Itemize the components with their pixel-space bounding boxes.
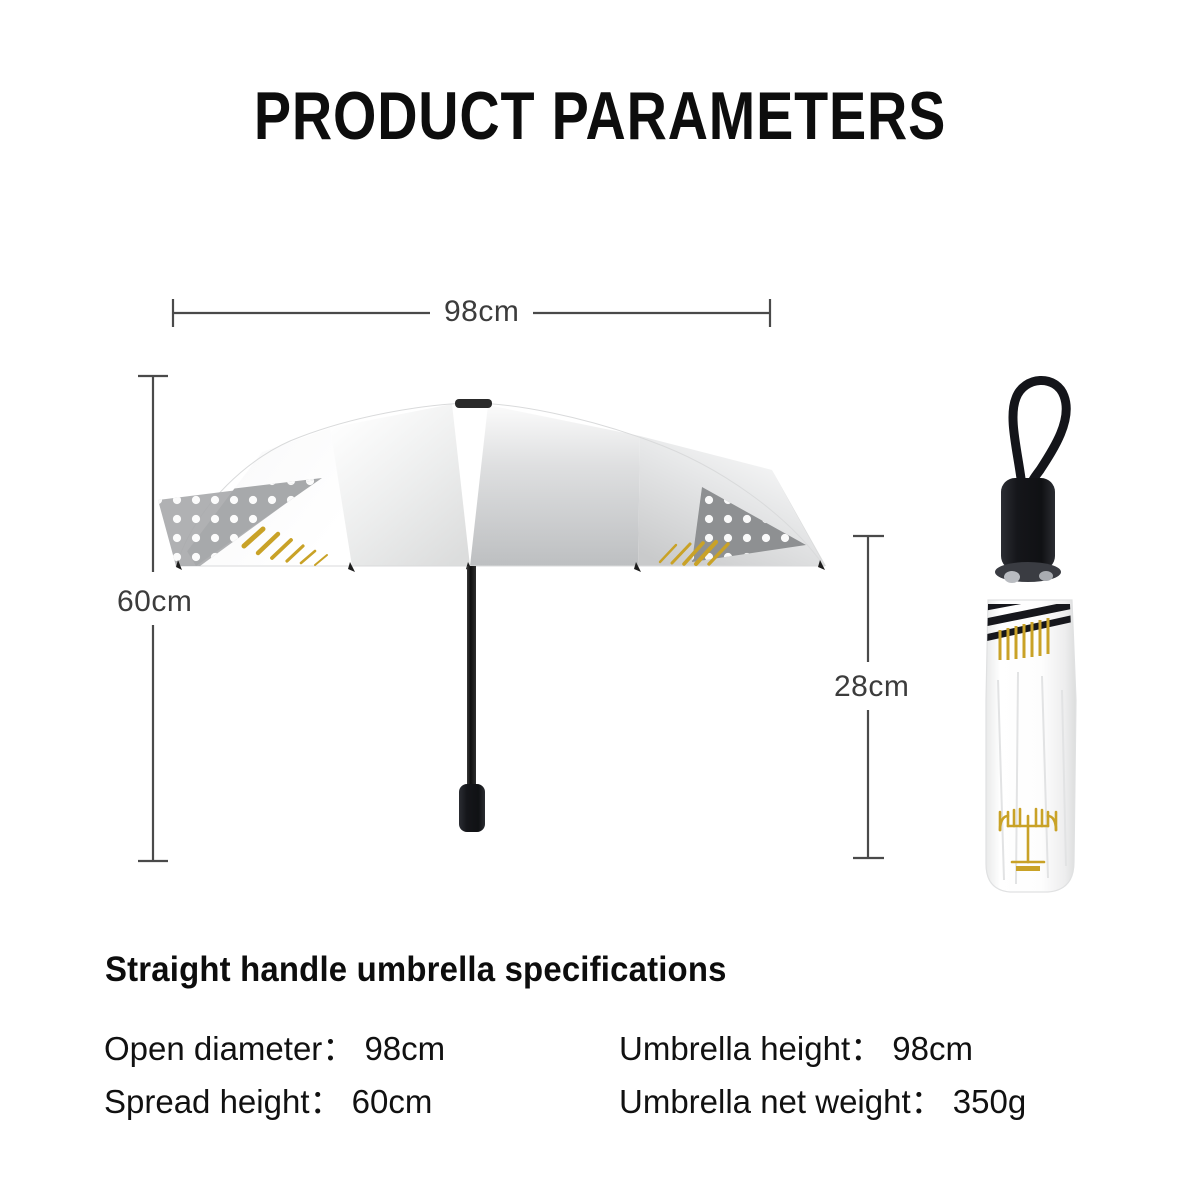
spec-row: Spread height： 60cm Umbrella net weight：… [104, 1083, 1114, 1122]
dimension-label-width: 98cm [430, 297, 533, 327]
spec-heading: Straight handle umbrella specifications [105, 950, 727, 990]
product-figure: 98cm 60cm 28cm [0, 0, 1200, 930]
umbrella-handle [459, 784, 485, 832]
spec-net-weight: Umbrella net weight： 350g [619, 1083, 1114, 1122]
canopy-ferrule [455, 399, 492, 408]
figure-svg [0, 0, 1200, 930]
spec-row: Open diameter： 98cm Umbrella height： 98c… [104, 1030, 1114, 1069]
folded-collar [995, 562, 1061, 583]
dimension-label-open-height: 60cm [111, 583, 198, 621]
wrist-strap-loop [1013, 380, 1066, 488]
canopy-panel-left [330, 404, 470, 566]
open-umbrella [155, 399, 826, 832]
spec-spread-height: Spread height： 60cm [104, 1083, 619, 1122]
spec-umbrella-height: Umbrella height： 98cm [619, 1030, 1114, 1069]
folded-handle [1001, 478, 1055, 570]
spec-table: Open diameter： 98cm Umbrella height： 98c… [104, 1030, 1114, 1136]
folded-umbrella [978, 380, 1086, 892]
spec-open-diameter: Open diameter： 98cm [104, 1030, 619, 1069]
umbrella-shaft [467, 566, 476, 788]
dimension-label-folded-length: 28cm [828, 668, 915, 706]
